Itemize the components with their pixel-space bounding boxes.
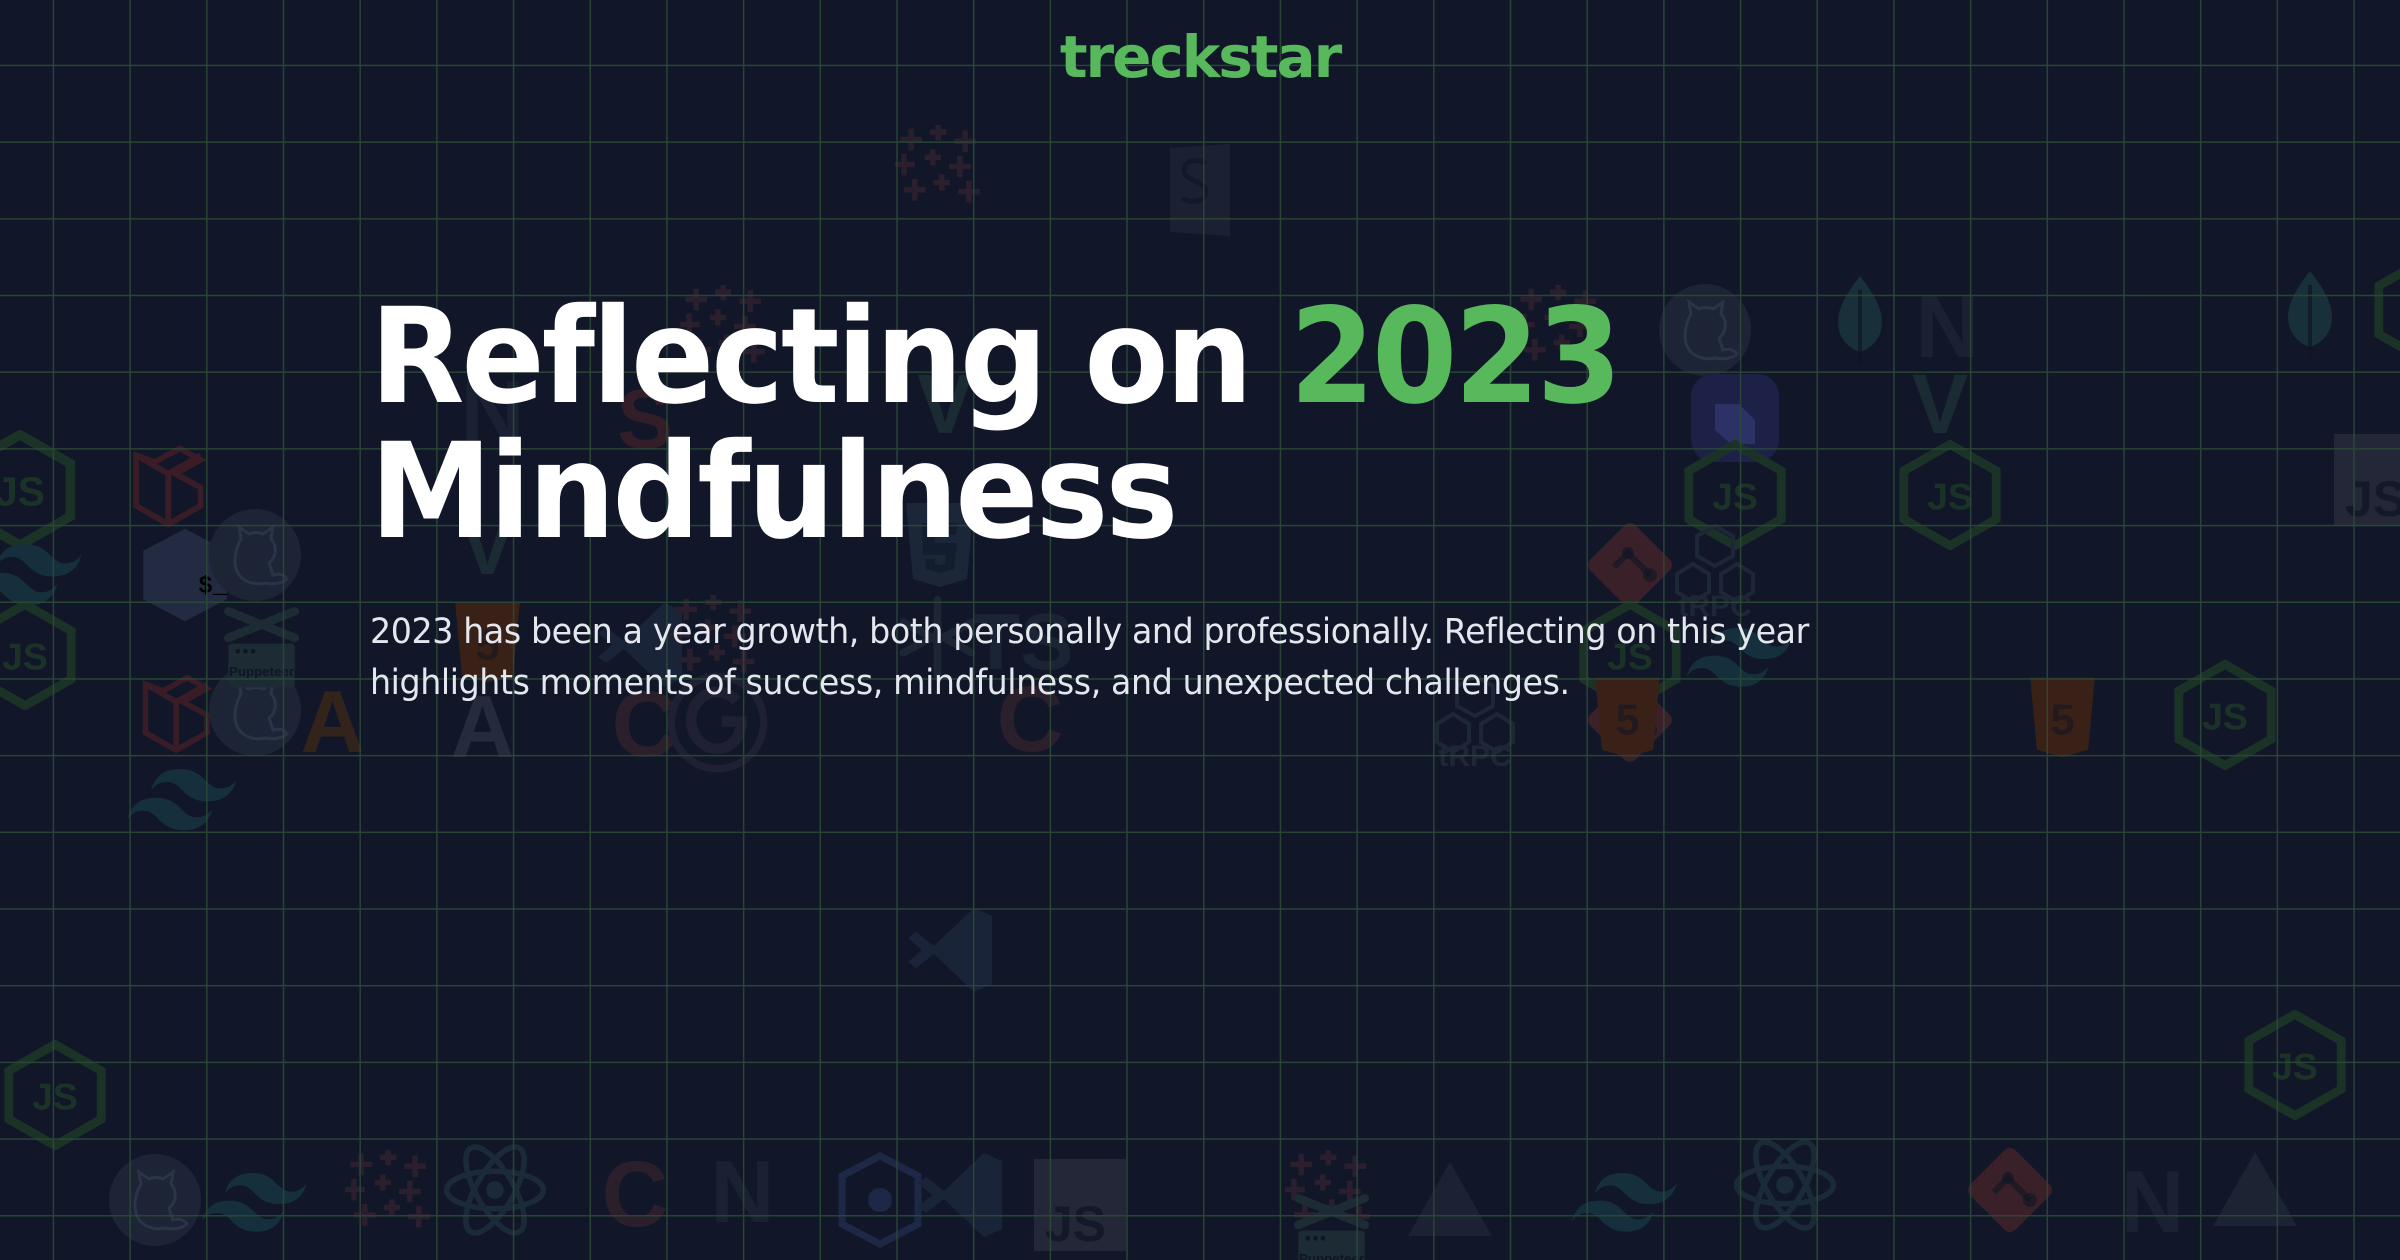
- headline-part-2: Mindfulness: [370, 415, 1175, 569]
- hero-paragraph: 2023 has been a year growth, both person…: [370, 559, 1824, 709]
- headline-part-1: Reflecting on: [370, 280, 1290, 434]
- brand-logo-text: treckstar: [1060, 23, 1340, 91]
- hero-page: JSJS$_PuppeteerNS5VAAVTSCCNVJSJStRPCJStR…: [0, 0, 2400, 1260]
- page-title: Reflecting on 2023 Mindfulness: [370, 290, 1821, 559]
- hero-block: Reflecting on 2023 Mindfulness 2023 has …: [370, 290, 1930, 709]
- headline-year: 2023: [1290, 280, 1619, 434]
- brand-logo[interactable]: treckstar: [0, 28, 2400, 86]
- page-content: treckstar Reflecting on 2023 Mindfulness…: [0, 0, 2400, 1260]
